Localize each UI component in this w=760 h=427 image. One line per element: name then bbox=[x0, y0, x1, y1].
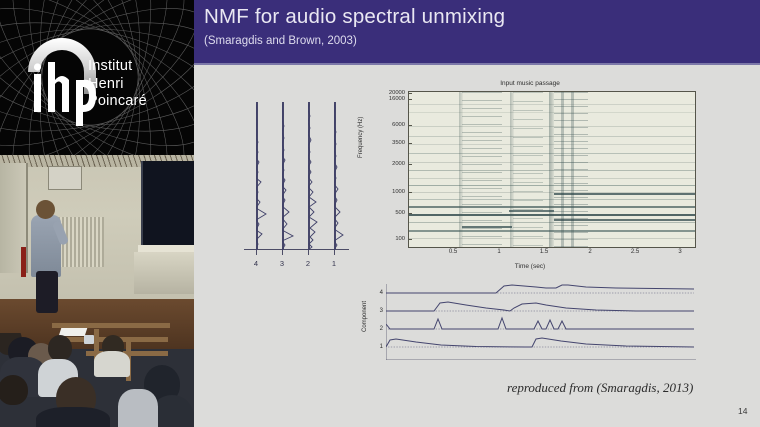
basis-label-1: 1 bbox=[332, 259, 336, 268]
activations-plot-area: 1 2 3 4 bbox=[386, 284, 696, 360]
slide-title: NMF for audio spectral unmixing bbox=[204, 5, 505, 29]
activation-ytick: 4 bbox=[380, 290, 383, 296]
audience-head bbox=[48, 335, 72, 361]
basis-tick-2 bbox=[308, 250, 309, 255]
spec-ytick: 2000 bbox=[392, 161, 405, 167]
lecture-recording-screen: Institut Henri Poincaré bbox=[0, 0, 760, 427]
basis-spectra-figure: 4 3 2 1 bbox=[244, 88, 356, 268]
figure-credit: reproduced from (Smaragdis, 2013) bbox=[507, 380, 693, 396]
presentation-slide: NMF for audio spectral unmixing (Smaragd… bbox=[194, 0, 760, 427]
spec-ytick: 20000 bbox=[389, 90, 405, 96]
audience-body bbox=[94, 351, 130, 377]
spectrogram-x-axis: 0.5 1 1.5 2 2.5 3 bbox=[408, 80, 694, 249]
spec-ytick: 3500 bbox=[392, 140, 405, 146]
spec-xtick: 2 bbox=[588, 249, 591, 255]
speaker-head bbox=[36, 200, 55, 219]
blackboard bbox=[141, 161, 194, 245]
lecture-hall-video-feed[interactable] bbox=[0, 155, 194, 427]
basis-tick-1 bbox=[334, 250, 335, 255]
spec-ytick: 6000 bbox=[392, 122, 405, 128]
basis-label-2: 2 bbox=[306, 259, 310, 268]
left-column: Institut Henri Poincaré bbox=[0, 0, 194, 427]
basis-label-4: 4 bbox=[254, 259, 258, 268]
wall-poster bbox=[48, 166, 82, 190]
spec-ytick: 500 bbox=[395, 210, 405, 216]
wall-ledge bbox=[134, 252, 194, 294]
activations-y-axis-label: Component bbox=[362, 301, 368, 332]
audience bbox=[0, 333, 194, 427]
institution-logo-panel: Institut Henri Poincaré bbox=[0, 0, 194, 155]
activation-ytick: 1 bbox=[380, 344, 383, 350]
blackboard-tray bbox=[138, 245, 194, 252]
slide-page-number: 14 bbox=[738, 406, 747, 416]
slide-subtitle-citation: (Smaragdis and Brown, 2003) bbox=[204, 35, 357, 47]
spectrogram-x-axis-label: Time (sec) bbox=[360, 263, 700, 270]
institution-name-line3: Poincaré bbox=[88, 93, 147, 111]
spec-xtick: 1 bbox=[497, 249, 500, 255]
component-activations-figure: Component bbox=[360, 282, 700, 366]
spec-ytick: 100 bbox=[395, 236, 405, 242]
spec-xtick: 2.5 bbox=[631, 249, 639, 255]
institution-name: Institut Henri Poincaré bbox=[88, 58, 147, 111]
institution-name-line1: Institut bbox=[88, 58, 147, 76]
activation-ytick: 2 bbox=[380, 326, 383, 332]
slide-header-rule bbox=[194, 63, 760, 65]
audience-body bbox=[36, 407, 110, 427]
basis-curve-2 bbox=[308, 102, 334, 250]
spectrogram-figure: Input music passage Frequency (Hz) Time … bbox=[360, 80, 700, 276]
basis-curve-3 bbox=[282, 102, 308, 250]
speaker-legs bbox=[36, 271, 58, 313]
spec-ytick: 1000 bbox=[392, 189, 405, 195]
institution-name-line2: Henri bbox=[88, 76, 147, 94]
basis-curve-1 bbox=[334, 102, 358, 250]
activation-ytick: 3 bbox=[380, 308, 383, 314]
basis-curve-4 bbox=[256, 102, 282, 250]
spectrogram-y-axis-label: Frequency (Hz) bbox=[358, 117, 364, 158]
basis-label-3: 3 bbox=[280, 259, 284, 268]
fire-extinguisher bbox=[21, 247, 26, 277]
spec-xtick: 3 bbox=[678, 249, 681, 255]
spec-ytick: 16000 bbox=[389, 96, 405, 102]
spec-xtick: 0.5 bbox=[449, 249, 457, 255]
activations-curves bbox=[386, 284, 696, 360]
spec-xtick: 1.5 bbox=[540, 249, 548, 255]
audience-head bbox=[0, 375, 28, 405]
basis-tick-3 bbox=[282, 250, 283, 255]
basis-tick-4 bbox=[256, 250, 257, 255]
audience-body bbox=[118, 389, 158, 427]
